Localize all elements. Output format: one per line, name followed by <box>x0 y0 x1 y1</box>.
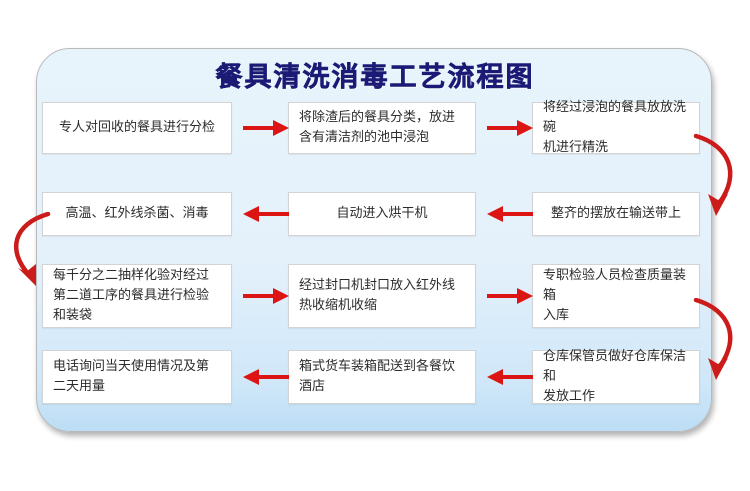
arrow-left-icon <box>243 366 289 388</box>
flow-box-label: 经过封口机封口放入红外线 热收缩机收缩 <box>289 276 475 316</box>
arrow-left-icon <box>243 203 289 225</box>
flow-box-step-12: 电话询问当天使用情况及第 二天用量 <box>42 350 232 404</box>
arrow-right-icon <box>243 117 289 139</box>
arrow-left-icon <box>487 203 533 225</box>
flow-box-label: 箱式货车装箱配送到各餐饮 酒店 <box>289 357 475 397</box>
flow-box-label: 专人对回收的餐具进行分检 <box>43 118 231 138</box>
arrow-right-icon <box>487 117 533 139</box>
arrow-left-icon <box>487 366 533 388</box>
flow-box-step-6: 高温、红外线杀菌、消毒 <box>42 192 232 236</box>
flow-box-step-3: 将经过浸泡的餐具放放洗碗 机进行精洗 <box>532 102 700 154</box>
page-title: 餐具清洗消毒工艺流程图 <box>0 55 750 94</box>
flow-box-label: 将除渣后的餐具分类，放进 含有清洁剂的池中浸泡 <box>289 108 475 148</box>
flow-box-step-10: 仓库保管员做好仓库保洁和 发放工作 <box>532 350 700 404</box>
flow-box-label: 高温、红外线杀菌、消毒 <box>43 204 231 224</box>
arrow-right-icon <box>243 285 289 307</box>
flow-box-step-5: 自动进入烘干机 <box>288 192 476 236</box>
flow-box-label: 电话询问当天使用情况及第 二天用量 <box>43 357 231 397</box>
flow-box-label: 整齐的摆放在输送带上 <box>533 204 699 224</box>
flowchart-canvas: 餐具清洗消毒工艺流程图 专人对回收的餐具进行分检 将除渣后的餐具分类，放进 含有… <box>0 0 750 491</box>
flow-box-step-4: 整齐的摆放在输送带上 <box>532 192 700 236</box>
flow-box-label: 专职检验人员检查质量装箱 入库 <box>533 266 699 326</box>
flow-box-step-1: 专人对回收的餐具进行分检 <box>42 102 232 154</box>
flow-box-step-11: 箱式货车装箱配送到各餐饮 酒店 <box>288 350 476 404</box>
flow-box-step-2: 将除渣后的餐具分类，放进 含有清洁剂的池中浸泡 <box>288 102 476 154</box>
flow-box-step-8: 经过封口机封口放入红外线 热收缩机收缩 <box>288 264 476 328</box>
flow-box-label: 将经过浸泡的餐具放放洗碗 机进行精洗 <box>533 98 699 158</box>
flow-box-step-9: 专职检验人员检查质量装箱 入库 <box>532 264 700 328</box>
arrow-right-icon <box>487 285 533 307</box>
flow-box-label: 仓库保管员做好仓库保洁和 发放工作 <box>533 347 699 407</box>
flow-box-label: 自动进入烘干机 <box>289 204 475 224</box>
flow-box-label: 每千分之二抽样化验对经过 第二道工序的餐具进行检验 和装袋 <box>43 266 231 326</box>
flow-box-step-7: 每千分之二抽样化验对经过 第二道工序的餐具进行检验 和装袋 <box>42 264 232 328</box>
